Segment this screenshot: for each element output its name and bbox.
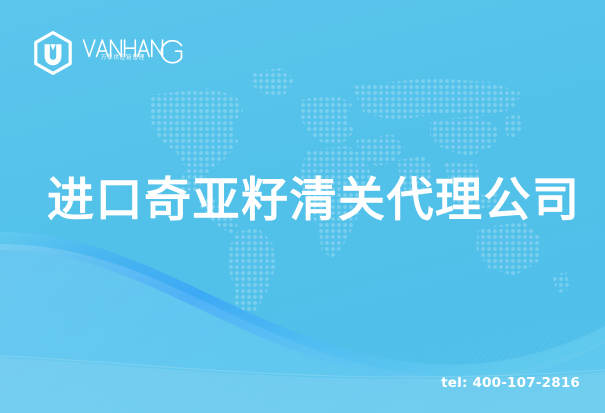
hexagon-anchor-icon <box>33 31 73 75</box>
vanhang-lettering <box>82 36 190 70</box>
company-logo[interactable]: 万享供应链管理 <box>33 30 190 76</box>
logo-subtitle: 万享供应链管理 <box>101 56 145 61</box>
promo-banner: 万享供应链管理 进口奇亚籽清关代理公司 tel: 400-107-2816 <box>0 0 605 413</box>
contact-phone[interactable]: tel: 400-107-2816 <box>441 375 580 391</box>
logo-wordmark: 万享供应链管理 <box>82 36 190 70</box>
page-title: 进口奇亚籽清关代理公司 <box>47 175 567 228</box>
